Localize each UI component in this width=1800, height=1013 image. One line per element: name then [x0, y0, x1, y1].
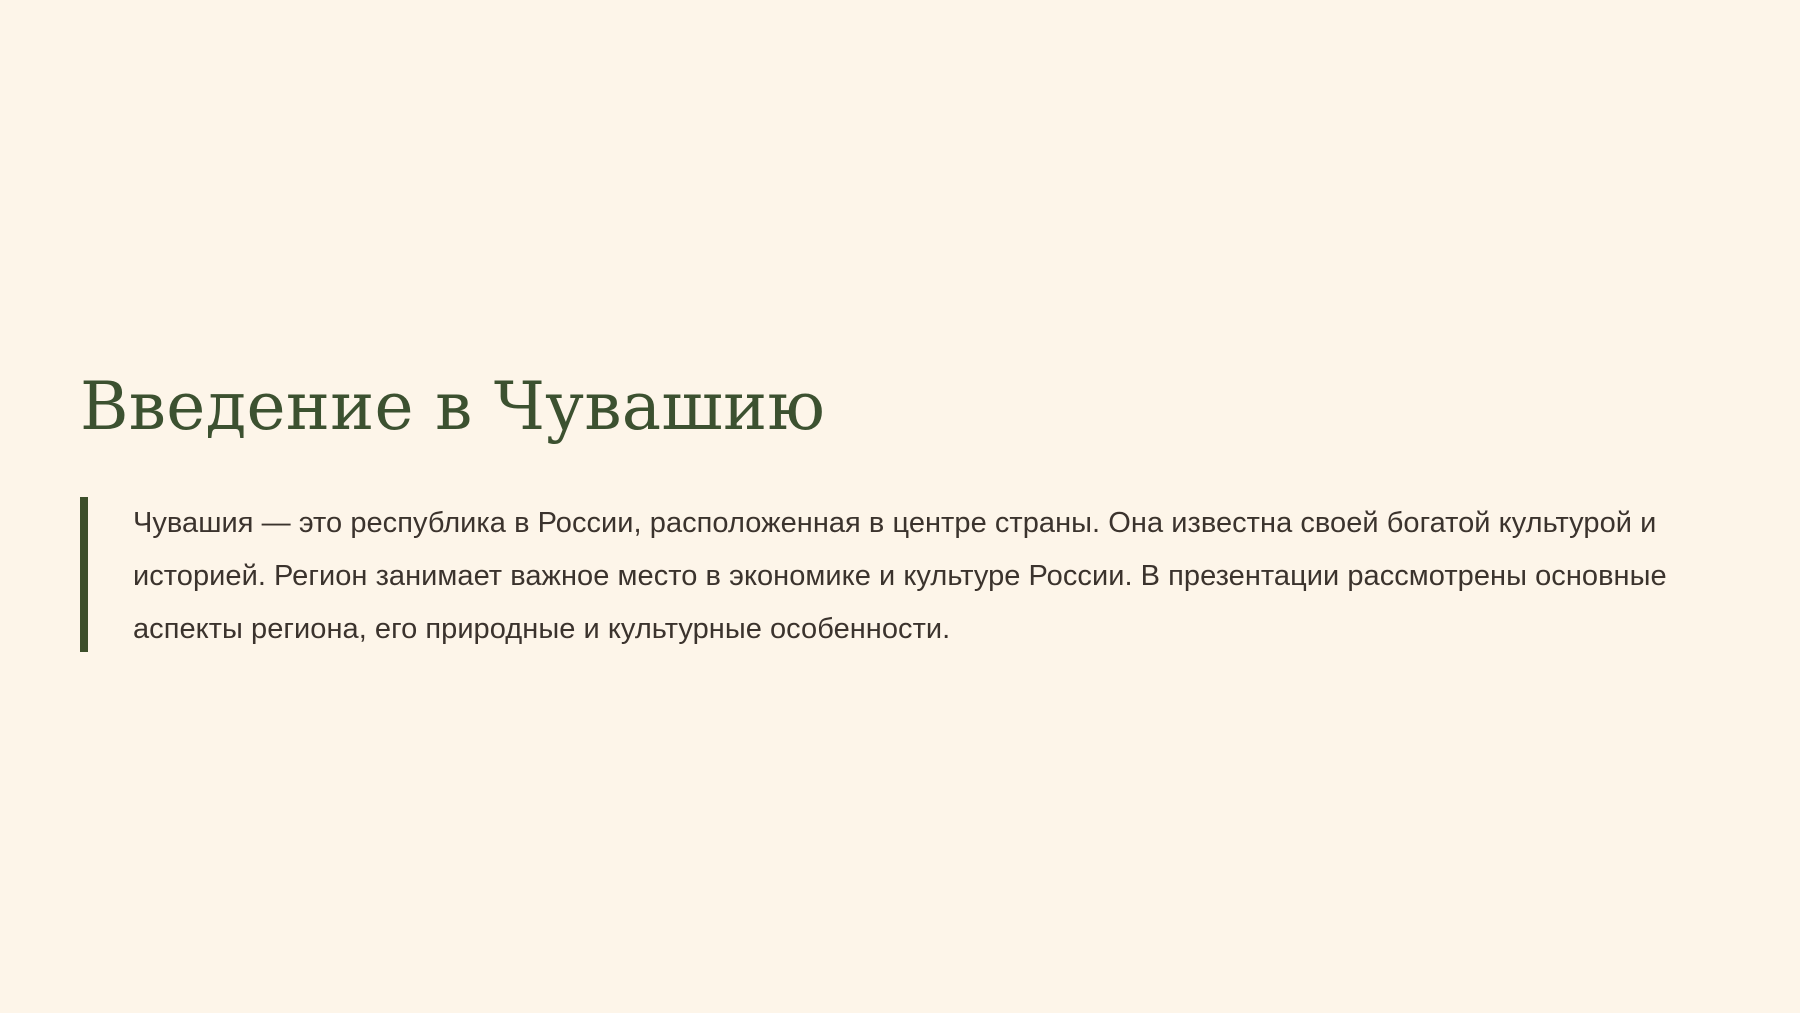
- presentation-slide: Введение в Чувашию Чувашия — это республ…: [0, 0, 1800, 1013]
- slide-content: Введение в Чувашию Чувашия — это республ…: [80, 372, 1740, 656]
- accent-bar: [80, 497, 88, 652]
- page-title: Введение в Чувашию: [80, 372, 1740, 442]
- body-paragraph: Чувашия — это республика в России, распо…: [133, 497, 1740, 656]
- body-callout-block: Чувашия — это республика в России, распо…: [80, 497, 1740, 656]
